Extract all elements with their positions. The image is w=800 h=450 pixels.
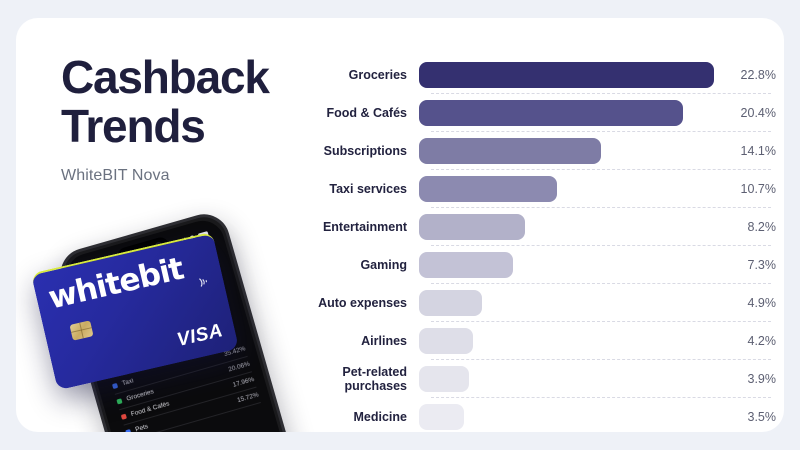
category-color-dot xyxy=(112,383,118,389)
bar-value: 4.2% xyxy=(714,334,776,348)
bar-label: Subscriptions xyxy=(306,144,419,158)
bar-track xyxy=(419,208,714,246)
table-row: Food & Cafés 20.4% xyxy=(306,94,776,132)
bar[interactable] xyxy=(419,176,557,202)
headline-block: Cashback Trends WhiteBIT Nova xyxy=(61,53,321,185)
bar-track xyxy=(419,170,714,208)
category-percent: 17.96% xyxy=(232,376,255,389)
bar-value: 3.5% xyxy=(714,410,776,424)
bar-track xyxy=(419,284,714,322)
table-row: Medicine 3.5% xyxy=(306,398,776,432)
bar-label: Auto expenses xyxy=(306,296,419,310)
bar-value: 3.9% xyxy=(714,372,776,386)
bar[interactable] xyxy=(419,366,469,392)
contactless-icon xyxy=(197,274,212,290)
cashback-bar-chart: Groceries 22.8% Food & Cafés 20.4% Subsc… xyxy=(306,56,776,432)
table-row: Taxi services 10.7% xyxy=(306,170,776,208)
bar-value: 10.7% xyxy=(714,182,776,196)
bar-label: Medicine xyxy=(306,410,419,424)
bar-value: 7.3% xyxy=(714,258,776,272)
bar[interactable] xyxy=(419,138,601,164)
page-title-line2: Trends xyxy=(61,100,205,152)
bar-label: Entertainment xyxy=(306,220,419,234)
bar-label: Food & Cafés xyxy=(306,106,419,120)
bar-track xyxy=(419,246,714,284)
bar-value: 20.4% xyxy=(714,106,776,120)
bar-label: Taxi services xyxy=(306,182,419,196)
table-row: Auto expenses 4.9% xyxy=(306,284,776,322)
bar-track xyxy=(419,56,714,94)
category-color-dot xyxy=(116,398,122,404)
bar-track xyxy=(419,94,714,132)
page-subtitle: WhiteBIT Nova xyxy=(61,167,321,185)
bar[interactable] xyxy=(419,404,464,430)
page-title: Cashback Trends xyxy=(61,53,321,151)
bar[interactable] xyxy=(419,290,482,316)
bar-label: Groceries xyxy=(306,68,419,82)
bar[interactable] xyxy=(419,214,525,240)
bar-track xyxy=(419,132,714,170)
bar-label: Pet-related purchases xyxy=(306,365,419,393)
table-row: Groceries 22.8% xyxy=(306,56,776,94)
table-row: Entertainment 8.2% xyxy=(306,208,776,246)
bar-value: 22.8% xyxy=(714,68,776,82)
table-row: Airlines 4.2% xyxy=(306,322,776,360)
bar-value: 8.2% xyxy=(714,220,776,234)
bar-label: Gaming xyxy=(306,258,419,272)
table-row: Pet-related purchases 3.9% xyxy=(306,360,776,398)
category-percent: 15.72% xyxy=(236,391,259,404)
product-artwork: 9:41 Categories 0.75 Total Expenses, EUR xyxy=(36,223,316,432)
bar[interactable] xyxy=(419,328,473,354)
bar-track xyxy=(419,398,714,432)
content-card: Cashback Trends WhiteBIT Nova 9:41 xyxy=(16,18,784,432)
screenshot-root: Cashback Trends WhiteBIT Nova 9:41 xyxy=(0,0,800,450)
category-color-dot xyxy=(125,429,131,432)
bar-track xyxy=(419,322,714,360)
table-row: Gaming 7.3% xyxy=(306,246,776,284)
bar-value: 4.9% xyxy=(714,296,776,310)
card-chip-icon xyxy=(69,320,93,340)
bar[interactable] xyxy=(419,100,683,126)
bar[interactable] xyxy=(419,62,714,88)
category-color-dot xyxy=(121,414,127,420)
bar-value: 14.1% xyxy=(714,144,776,158)
bar-track xyxy=(419,360,714,398)
bar-label: Airlines xyxy=(306,334,419,348)
bar[interactable] xyxy=(419,252,513,278)
page-title-line1: Cashback xyxy=(61,51,269,103)
table-row: Subscriptions 14.1% xyxy=(306,132,776,170)
visa-logo: VISA xyxy=(175,320,225,352)
category-percent: 20.06% xyxy=(228,361,251,374)
